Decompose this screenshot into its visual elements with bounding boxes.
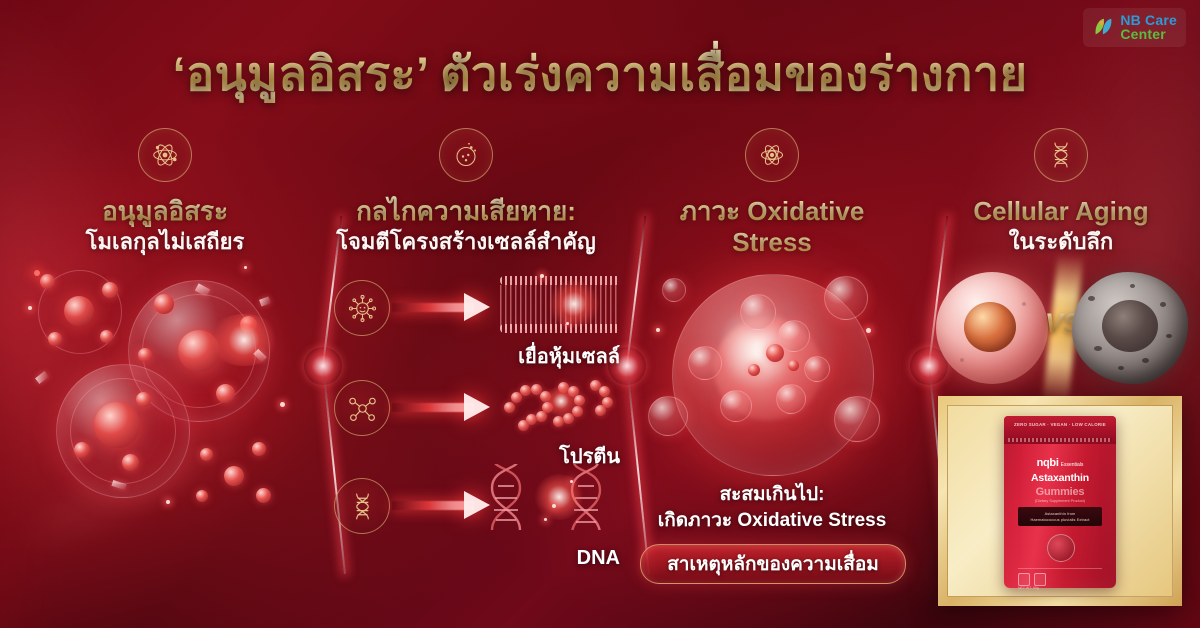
damage-row-3-label: DNA: [577, 547, 620, 570]
product-brand-sub: Essentials: [1061, 462, 1084, 468]
column-3-sub-line2: เกิดภาวะ Oxidative Stress: [620, 508, 924, 534]
product-claims: ZERO SUGAR · VEGAN · LOW CALORIE: [1004, 422, 1116, 427]
product-band-line1: Astaxanthin from: [1045, 511, 1076, 516]
attack-arrow: [392, 292, 502, 322]
column-4-heading: Cellular Aging: [930, 196, 1192, 227]
free-radical-icon: [334, 280, 390, 336]
molecule-icon: [334, 380, 390, 436]
oxidative-atom-icon: [745, 128, 799, 182]
product-net-weight: NET WT. 90g: [1018, 586, 1039, 590]
column-2-heading: กลไกความเสียหาย:: [318, 196, 614, 227]
column-3-subtext: สะสมเกินไป: เกิดภาวะ Oxidative Stress: [620, 482, 924, 533]
logo-line1: NB Care: [1120, 13, 1177, 27]
infographic-poster: NB Care Center ‘อนุมูลอิสระ’ ตัวเร่งความ…: [0, 0, 1200, 628]
column-free-radicals: อนุมูลอิสระ โมเลกุลไม่เสถียร: [20, 128, 310, 256]
product-pouch[interactable]: ZERO SUGAR · VEGAN · LOW CALORIE nqbiEss…: [1004, 416, 1116, 588]
damage-row-membrane: เยื่อหุ้มเซลล์: [330, 272, 620, 368]
atom-icon: [138, 128, 192, 182]
leaf-person-icon: [1092, 16, 1114, 38]
column-oxidative-stress: ภาวะ Oxidative Stress: [622, 128, 922, 258]
cell-comparison: VS: [930, 268, 1192, 388]
product-name-2: Gummies: [1004, 486, 1116, 498]
column-3-heading-line1: ภาวะ Oxidative: [622, 196, 922, 227]
broken-dna-graphic: [500, 470, 620, 536]
damaged-cell: [1072, 272, 1188, 384]
product-certification-icons: [1018, 573, 1046, 586]
damage-row-1-label: เยื่อหุ้มเซลล์: [518, 340, 620, 372]
oxidative-cell-graphic: [648, 268, 896, 488]
damage-row-protein: โปรตีน: [330, 372, 620, 468]
column-2-subheading: โจมตีโครงสร้างเซลล์สำคัญ: [318, 228, 614, 256]
status-badge: สาเหตุหลักของความเสื่อม: [640, 544, 906, 584]
healthy-cell: [936, 272, 1048, 384]
dna-helix-icon: [1034, 128, 1088, 182]
document-icon: [1018, 573, 1030, 586]
product-name: Astaxanthin: [1004, 472, 1116, 484]
product-seal-icon: [1047, 534, 1075, 562]
dna-icon: [334, 478, 390, 534]
page-title: ‘อนุมูลอิสระ’ ตัวเร่งความเสื่อมของร่างกา…: [0, 36, 1200, 111]
damaged-cell-icon: [439, 128, 493, 182]
shield-icon: [1034, 573, 1046, 586]
free-radical-molecule-art: [18, 252, 318, 542]
column-1-heading: อนุมูลอิสระ: [20, 196, 310, 227]
column-4-subheading: ในระดับลึก: [930, 228, 1192, 256]
product-brand: nqbiEssentials: [1004, 454, 1116, 470]
protein-chain-graphic: [500, 372, 620, 438]
column-3-heading-line2: Stress: [622, 227, 922, 258]
ambient-glow-dot: [34, 270, 40, 276]
column-cellular-aging: Cellular Aging ในระดับลึก: [930, 128, 1192, 256]
lipid-bilayer-graphic: [500, 272, 620, 338]
product-descriptor: (Dietary Supplement Product): [1004, 499, 1116, 503]
product-frame: ZERO SUGAR · VEGAN · LOW CALORIE nqbiEss…: [938, 396, 1182, 606]
product-ingredient-band: Astaxanthin from Haematococcus pluvialis…: [1018, 507, 1102, 526]
column-damage-mechanism: กลไกความเสียหาย: โจมตีโครงสร้างเซลล์สำคั…: [318, 128, 614, 256]
product-band-line2: Haematococcus pluvialis Extract: [1030, 517, 1089, 522]
damage-row-dna: DNA: [330, 470, 620, 566]
attack-arrow: [392, 392, 502, 422]
column-3-sub-line1: สะสมเกินไป:: [620, 482, 924, 508]
product-brand-main: nqbi: [1037, 457, 1059, 469]
